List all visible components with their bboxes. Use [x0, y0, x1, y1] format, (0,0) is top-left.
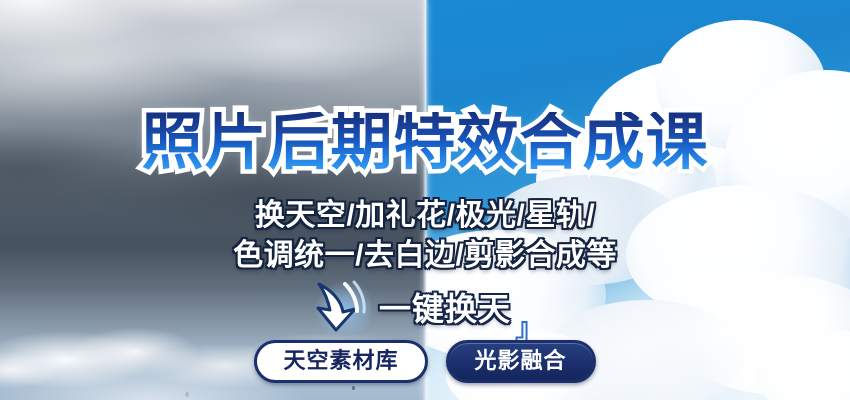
subtitle-line-2: 色调统一/去白边/剪影合成等	[0, 236, 850, 276]
down-arrow-cursor-icon	[305, 278, 373, 336]
one-key-label: 一键换天	[379, 284, 511, 330]
one-key-feature-row: 一键换天 』	[0, 278, 850, 336]
subtitle-block: 换天空/加礼花/极光/星轨/ 色调统一/去白边/剪影合成等	[0, 196, 850, 276]
subtitle-line-1: 换天空/加礼花/极光/星轨/	[0, 196, 850, 236]
feature-badges: 天空素材库 光影融合	[0, 340, 850, 383]
badge-light-blend[interactable]: 光影融合	[446, 340, 596, 383]
badge-sky-library[interactable]: 天空素材库	[254, 340, 427, 383]
course-promo-banner: 照片后期特效合成课 照片后期特效合成课 换天空/加礼花/极光/星轨/ 色调统一/…	[0, 0, 850, 400]
page-title: 照片后期特效合成课	[0, 112, 850, 174]
